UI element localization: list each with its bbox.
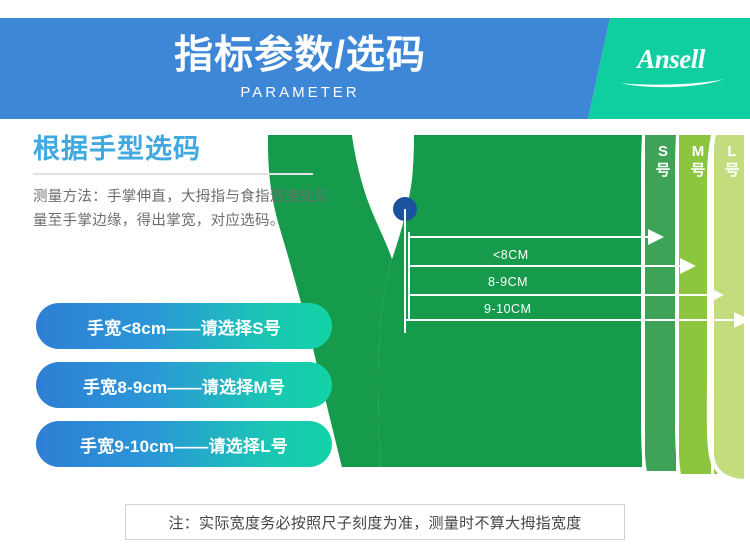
size-pill-m[interactable]: 手宽8-9cm——请选择M号 [36, 362, 332, 408]
footnote-text: 注：实际宽度务必按照尺子刻度为准，测量时不算大拇指宽度 [168, 512, 581, 533]
size-band-S [644, 135, 678, 471]
size-column-label-S: S 号 [652, 143, 674, 181]
size-pill-l-label: 手宽9-10cm——请选择L号 [80, 432, 288, 457]
section-title: 根据手型选码 [33, 133, 353, 165]
page-title: 指标参数/选码 [174, 36, 426, 77]
bracket-vline [408, 232, 410, 320]
size-column-label-L: L 号 [721, 143, 743, 181]
measure-label-1: <8CM [493, 248, 529, 262]
section-title-divider [33, 173, 313, 175]
hand-silhouette [378, 135, 643, 467]
size-unit-S: 号 [655, 162, 670, 179]
arrow-line-2 [408, 265, 680, 267]
size-band-L [712, 135, 744, 479]
size-pill-l[interactable]: 手宽9-10cm——请选择L号 [36, 421, 332, 467]
size-code-M: M [692, 143, 705, 160]
size-recommendation-list: 手宽<8cm——请选择S号 手宽8-9cm——请选择M号 手宽9-10cm——请… [36, 303, 336, 480]
reference-vline [404, 223, 406, 333]
measure-label-3: 9-10CM [484, 302, 531, 316]
size-pill-m-label: 手宽8-9cm——请选择M号 [83, 373, 285, 398]
size-pill-s[interactable]: 手宽<8cm——请选择S号 [36, 303, 332, 349]
size-pill-s-label: 手宽<8cm——请选择S号 [87, 314, 281, 339]
footnote-box: 注：实际宽度务必按照尺子刻度为准，测量时不算大拇指宽度 [125, 504, 625, 540]
brand-logo: Ansell [606, 46, 736, 94]
size-code-L: L [727, 143, 736, 160]
left-info-panel: 根据手型选码 测量方法：手掌伸直，大拇指与食指连接处测量至手掌边缘，得出掌宽，对… [33, 133, 353, 234]
size-unit-M: 号 [690, 162, 705, 179]
size-unit-L: 号 [724, 162, 739, 179]
page-subtitle: PARAMETER [240, 84, 359, 101]
arrow-line-1 [408, 236, 648, 238]
measurement-description: 测量方法：手掌伸直，大拇指与食指连接处测量至手掌边缘，得出掌宽，对应选码。 [33, 186, 333, 234]
band-separator-2 [676, 135, 679, 474]
arrow-line-3 [408, 294, 708, 296]
brand-logo-text: Ansell [606, 46, 736, 73]
size-code-S: S [658, 143, 668, 160]
header-title-block: 指标参数/选码 PARAMETER [0, 18, 600, 119]
page-header: 指标参数/选码 PARAMETER Ansell [0, 18, 750, 119]
band-separator-1 [642, 135, 645, 471]
size-column-label-M: M 号 [687, 143, 709, 181]
arrow-line-4 [404, 319, 734, 321]
measure-label-2: 8-9CM [488, 275, 528, 289]
logo-swoosh-icon [606, 74, 736, 90]
band-separator-3 [711, 135, 714, 477]
